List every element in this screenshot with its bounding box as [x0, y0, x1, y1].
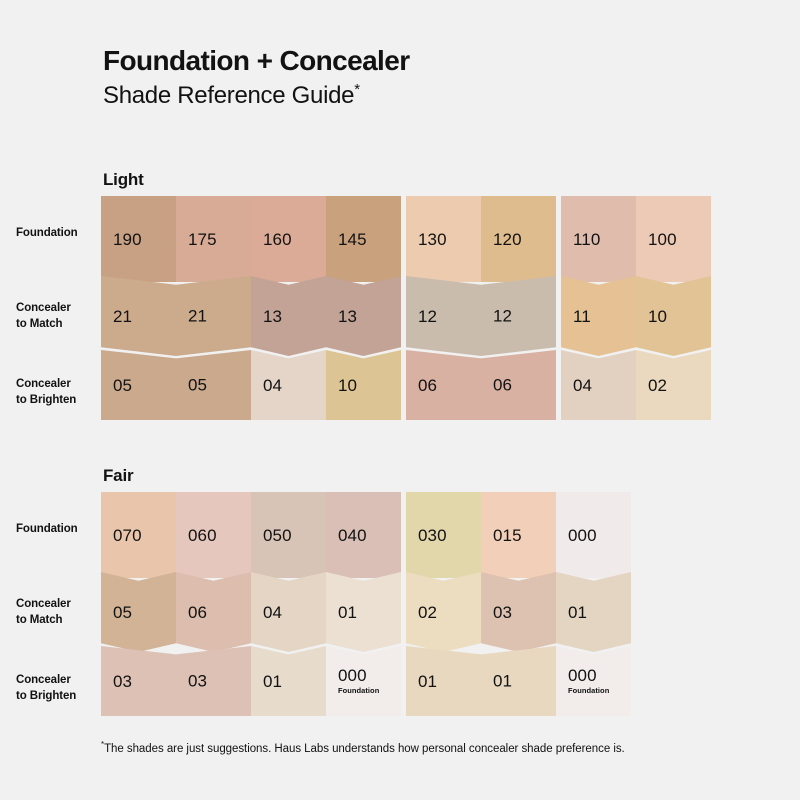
swatch-label-wrap: 13 — [326, 308, 357, 325]
shade-code: 02 — [418, 604, 437, 621]
swatch-label-wrap: 12 — [481, 308, 512, 325]
shade-code: 015 — [493, 527, 522, 544]
shade-code: 13 — [338, 308, 357, 325]
swatch-band-match: 05060401 — [101, 572, 401, 652]
row-label-line1: Concealer — [16, 674, 71, 686]
shade-swatch-foundation[interactable]: 015 — [481, 492, 556, 578]
swatch-label-wrap: 21 — [176, 308, 207, 325]
swatch-label-wrap: 21 — [101, 308, 132, 325]
swatch-label-wrap: 01 — [406, 673, 437, 690]
footnote: *The shades are just suggestions. Haus L… — [101, 742, 741, 757]
shade-code: 03 — [113, 673, 132, 690]
swatch-label-wrap: 06 — [176, 604, 207, 621]
shade-code: 12 — [418, 308, 437, 325]
shade-swatch-match[interactable]: 2121 — [101, 276, 251, 356]
row-label-line1: Concealer — [16, 378, 71, 390]
swatch-label-wrap: 145 — [326, 231, 367, 248]
shade-swatch-foundation[interactable]: 040 — [326, 492, 401, 578]
row-label-line2: to Brighten — [16, 690, 76, 702]
swatch-label-wrap: 03 — [101, 673, 132, 690]
shade-code: 11 — [573, 308, 591, 325]
shade-code: 04 — [263, 604, 282, 621]
shade-code: 120 — [493, 231, 522, 248]
row-label-concealer-match-light: Concealerto Match — [16, 301, 102, 333]
shade-swatch-match[interactable]: 01 — [326, 572, 401, 652]
section-label-light: Light — [103, 170, 144, 190]
swatch-label-wrap: 11 — [561, 308, 591, 325]
shade-code: 01 — [263, 673, 282, 690]
swatch-label-wrap: 060 — [176, 527, 217, 544]
shade-code: 04 — [263, 377, 282, 394]
shade-code: 04 — [573, 377, 592, 394]
shade-swatch-foundation[interactable]: 000 — [556, 492, 631, 578]
page-title: Foundation + Concealer — [103, 45, 723, 76]
swatch-label-wrap: 000Foundation — [556, 667, 609, 695]
swatch-label-wrap: 000Foundation — [326, 667, 379, 695]
shade-code: 05 — [188, 377, 207, 394]
shade-code: 01 — [338, 604, 357, 621]
page-header: Foundation + Concealer Shade Reference G… — [103, 45, 723, 110]
shade-swatch-match[interactable]: 13 — [251, 276, 326, 356]
swatch-label-wrap: 130 — [406, 231, 447, 248]
swatch-label-wrap: 10 — [326, 377, 357, 394]
row-label-line1: Concealer — [16, 302, 71, 314]
shade-swatch-match[interactable]: 10 — [636, 276, 711, 356]
shade-code: 03 — [493, 604, 512, 621]
swatch-label-wrap: 05 — [101, 604, 132, 621]
swatch-label-wrap: 000 — [556, 527, 597, 544]
swatch-label-wrap: 02 — [636, 377, 667, 394]
shade-code: 050 — [263, 527, 292, 544]
swatch-band-match: 1110 — [561, 276, 711, 356]
shade-code: 000 — [568, 527, 597, 544]
swatch-label-wrap: 03 — [176, 673, 207, 690]
title-asterisk: * — [354, 81, 360, 98]
swatch-band-foundation: 110100 — [561, 196, 711, 282]
row-label-line1: Concealer — [16, 598, 71, 610]
shade-swatch-match[interactable]: 06 — [176, 572, 251, 652]
swatch-label-wrap: 050 — [251, 527, 292, 544]
swatch-label-wrap: 030 — [406, 527, 447, 544]
footnote-text: The shades are just suggestions. Haus La… — [104, 743, 625, 755]
shade-swatch-foundation[interactable]: 060 — [176, 492, 251, 578]
swatch-label-wrap: 100 — [636, 231, 677, 248]
shade-code: 040 — [338, 527, 367, 544]
swatch-label-wrap: 120 — [481, 231, 522, 248]
shade-swatch-match[interactable]: 02 — [406, 572, 481, 652]
shade-swatch-match[interactable]: 01 — [556, 572, 631, 652]
section-label-fair: Fair — [103, 466, 133, 486]
shade-swatch-foundation[interactable]: 175 — [176, 196, 251, 282]
row-label-concealer-brighten-light: Concealerto Brighten — [16, 377, 102, 409]
shade-swatch-brighten[interactable]: 10 — [326, 350, 401, 420]
shade-code: 070 — [113, 527, 142, 544]
shade-swatch-brighten[interactable]: 0101 — [406, 646, 556, 716]
swatch-band-foundation: 130120 — [406, 196, 556, 282]
shade-code: 160 — [263, 231, 292, 248]
shade-code-sublabel: Foundation — [568, 687, 609, 695]
shade-swatch-foundation[interactable]: 030 — [406, 492, 481, 578]
swatch-label-wrap: 13 — [251, 308, 282, 325]
shade-swatch-foundation[interactable]: 190 — [101, 196, 176, 282]
swatch-label-wrap: 01 — [326, 604, 357, 621]
shade-swatch-brighten[interactable]: 01 — [251, 646, 326, 716]
shade-swatch-brighten[interactable]: 0505 — [101, 350, 251, 420]
shade-code: 060 — [188, 527, 217, 544]
shade-swatch-brighten[interactable]: 04 — [251, 350, 326, 420]
shade-code: 06 — [188, 604, 207, 621]
shade-code: 10 — [648, 308, 667, 325]
swatch-label-wrap: 06 — [481, 377, 512, 394]
swatch-label-wrap: 070 — [101, 527, 142, 544]
shade-swatch-match[interactable]: 04 — [251, 572, 326, 652]
shade-code: 01 — [493, 673, 512, 690]
swatch-label-wrap: 04 — [251, 377, 282, 394]
shade-code-sublabel: Foundation — [338, 687, 379, 695]
shade-code: 03 — [188, 673, 207, 690]
shade-swatch-match[interactable]: 05 — [101, 572, 176, 652]
row-label-concealer-match-fair: Concealerto Match — [16, 597, 102, 629]
shade-code: 130 — [418, 231, 447, 248]
shade-swatch-foundation[interactable]: 110 — [561, 196, 636, 282]
swatch-label-wrap: 175 — [176, 231, 217, 248]
swatch-band-brighten: 0402 — [561, 350, 711, 420]
swatch-label-wrap: 10 — [636, 308, 667, 325]
shade-code: 02 — [648, 377, 667, 394]
swatch-label-wrap: 01 — [481, 673, 512, 690]
shade-code: 21 — [113, 308, 132, 325]
swatch-label-wrap: 06 — [406, 377, 437, 394]
swatch-band-foundation: 070060050040 — [101, 492, 401, 578]
swatch-group: 0300150000203010101000Foundation — [406, 492, 631, 716]
shade-code: 12 — [493, 308, 512, 325]
page-subtitle: Shade Reference Guide* — [103, 82, 723, 110]
shade-swatch-match[interactable]: 03 — [481, 572, 556, 652]
row-label-line2: to Match — [16, 614, 62, 626]
swatch-band-brighten: 0606 — [406, 350, 556, 420]
row-label-foundation-light: Foundation — [16, 226, 102, 242]
swatch-band-brighten: 05050410 — [101, 350, 401, 420]
shade-code: 13 — [263, 308, 282, 325]
shade-code: 06 — [418, 377, 437, 394]
shade-code: 000 — [338, 667, 367, 684]
shade-swatch-match[interactable]: 13 — [326, 276, 401, 356]
swatch-label-wrap: 04 — [251, 604, 282, 621]
swatch-band-match: 21211313 — [101, 276, 401, 356]
page-subtitle-text: Shade Reference Guide — [103, 82, 354, 109]
row-label-line2: to Match — [16, 318, 62, 330]
shade-swatch-brighten[interactable]: 000Foundation — [326, 646, 401, 716]
swatch-label-wrap: 110 — [561, 231, 600, 248]
row-label-line2: to Brighten — [16, 394, 76, 406]
shade-code: 190 — [113, 231, 142, 248]
swatch-label-wrap: 04 — [561, 377, 592, 394]
shade-swatch-brighten[interactable]: 02 — [636, 350, 711, 420]
row-label-concealer-brighten-fair: Concealerto Brighten — [16, 673, 102, 705]
swatch-label-wrap: 02 — [406, 604, 437, 621]
swatch-label-wrap: 05 — [101, 377, 132, 394]
swatch-group: 13012012120606 — [406, 196, 556, 420]
shade-table-fair: 07006005004005060401030301000Foundation0… — [101, 492, 632, 716]
shade-code: 100 — [648, 231, 677, 248]
shade-code: 000 — [568, 667, 597, 684]
shade-swatch-brighten[interactable]: 0303 — [101, 646, 251, 716]
shade-code: 01 — [418, 673, 437, 690]
swatch-label-wrap: 03 — [481, 604, 512, 621]
shade-swatch-foundation[interactable]: 160 — [251, 196, 326, 282]
shade-swatch-brighten[interactable]: 000Foundation — [556, 646, 631, 716]
shade-swatch-brighten[interactable]: 0606 — [406, 350, 556, 420]
swatch-band-match: 1212 — [406, 276, 556, 356]
swatch-group: 1901751601452121131305050410 — [101, 196, 401, 420]
swatch-band-match: 020301 — [406, 572, 631, 652]
shade-code: 05 — [113, 377, 132, 394]
swatch-label-wrap: 160 — [251, 231, 292, 248]
swatch-band-brighten: 030301000Foundation — [101, 646, 401, 716]
shade-swatch-match[interactable]: 11 — [561, 276, 636, 356]
swatch-label-wrap: 01 — [556, 604, 587, 621]
swatch-label-wrap: 190 — [101, 231, 142, 248]
swatch-label-wrap: 12 — [406, 308, 437, 325]
shade-code: 05 — [113, 604, 132, 621]
swatch-band-foundation: 190175160145 — [101, 196, 401, 282]
shade-code: 145 — [338, 231, 367, 248]
shade-swatch-foundation[interactable]: 120 — [481, 196, 556, 282]
swatch-band-foundation: 030015000 — [406, 492, 631, 578]
shade-swatch-foundation[interactable]: 130 — [406, 196, 481, 282]
row-label-foundation-fair: Foundation — [16, 522, 102, 538]
shade-swatch-foundation[interactable]: 145 — [326, 196, 401, 282]
shade-code: 110 — [573, 231, 600, 248]
swatch-label-wrap: 040 — [326, 527, 367, 544]
swatch-group: 11010011100402 — [561, 196, 711, 420]
shade-swatch-brighten[interactable]: 04 — [561, 350, 636, 420]
swatch-group: 07006005004005060401030301000Foundation — [101, 492, 401, 716]
shade-code: 06 — [493, 377, 512, 394]
shade-table-light: 1901751601452121131305050410130120121206… — [101, 196, 712, 420]
swatch-label-wrap: 015 — [481, 527, 522, 544]
shade-swatch-match[interactable]: 1212 — [406, 276, 556, 356]
swatch-label-wrap: 05 — [176, 377, 207, 394]
swatch-band-brighten: 0101000Foundation — [406, 646, 631, 716]
swatch-label-wrap: 01 — [251, 673, 282, 690]
shade-code: 175 — [188, 231, 217, 248]
shade-code: 10 — [338, 377, 357, 394]
shade-reference-page: Foundation + Concealer Shade Reference G… — [0, 0, 800, 800]
shade-code: 030 — [418, 527, 447, 544]
shade-swatch-foundation[interactable]: 070 — [101, 492, 176, 578]
shade-code: 01 — [568, 604, 587, 621]
shade-swatch-foundation[interactable]: 050 — [251, 492, 326, 578]
shade-swatch-foundation[interactable]: 100 — [636, 196, 711, 282]
shade-code: 21 — [188, 308, 207, 325]
